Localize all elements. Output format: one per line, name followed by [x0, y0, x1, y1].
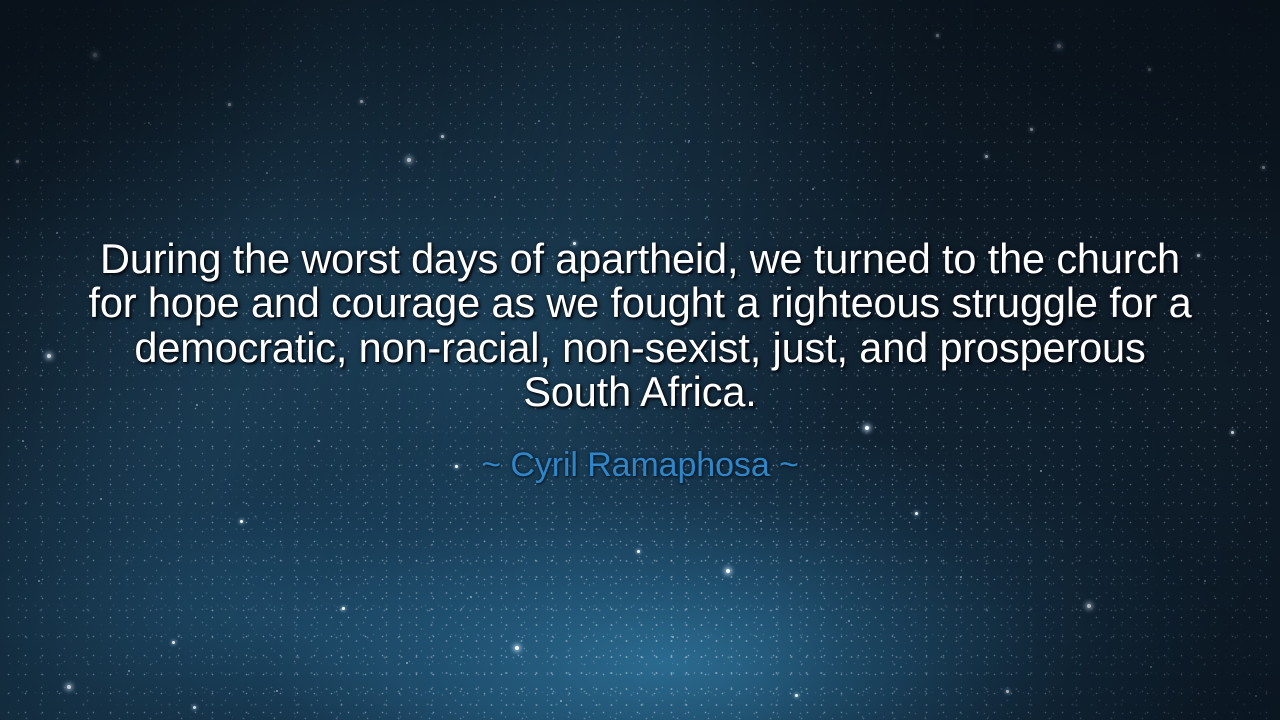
quote-text-block: During the worst days of apartheid, we t… — [0, 0, 1280, 720]
quote-slide: During the worst days of apartheid, we t… — [0, 0, 1280, 720]
quote-attribution: ~ Cyril Ramaphosa ~ — [481, 446, 798, 484]
quote-text: During the worst days of apartheid, we t… — [82, 237, 1198, 415]
